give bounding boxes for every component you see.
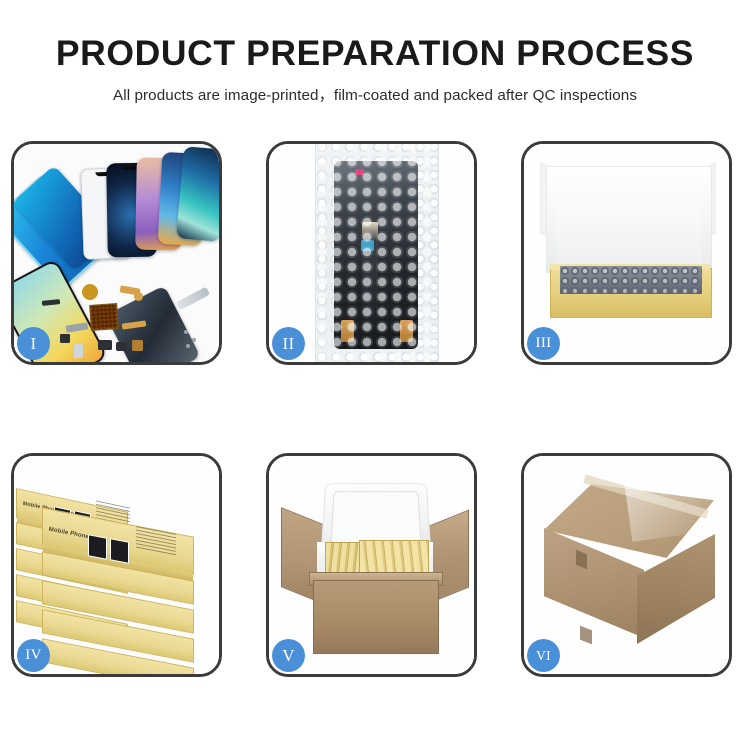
open-flat-box-scene xyxy=(524,144,729,362)
carton-packing-scene xyxy=(269,456,474,674)
process-step-panel-3: III xyxy=(521,141,732,365)
taptic-engine-part xyxy=(116,342,127,351)
charging-port-part xyxy=(132,340,143,351)
stacked-retail-boxes-scene: Mobile Phone Spare Parts Mobile Phone Sp… xyxy=(14,456,219,674)
logic-board-part xyxy=(89,303,119,331)
step-2-image xyxy=(269,144,474,362)
screw-part xyxy=(184,330,188,334)
foam-lid-inner xyxy=(330,491,421,544)
process-step-panel-2: II xyxy=(266,141,477,365)
camera-module-part xyxy=(60,334,70,343)
process-step-panel-1: I xyxy=(11,141,222,365)
bubble-wrapped-contents xyxy=(560,266,702,294)
bubble-wrapped-screen-scene xyxy=(269,144,474,362)
lcd-tab-left xyxy=(341,320,354,342)
process-step-panel-6: VI xyxy=(521,453,732,677)
box-window-screen xyxy=(88,534,107,560)
step-1-image xyxy=(14,144,219,362)
page-header: PRODUCT PREPARATION PROCESS All products… xyxy=(0,0,750,105)
battery-connector-part xyxy=(74,344,83,358)
sim-tray-part xyxy=(98,340,112,350)
box-window-screen xyxy=(110,538,129,564)
qc-sticker xyxy=(355,169,364,175)
home-button-part xyxy=(134,292,143,301)
tweezers-tool xyxy=(176,287,210,311)
teal-lcd-screen xyxy=(176,146,219,241)
lcd-connector xyxy=(361,240,374,251)
vibration-motor-part xyxy=(82,284,98,300)
lcd-tab-right xyxy=(400,320,413,342)
step-badge-2: II xyxy=(272,327,305,360)
process-step-panel-4: Mobile Phone Spare Parts Mobile Phone Sp… xyxy=(11,453,222,677)
process-step-panel-5: V xyxy=(266,453,477,677)
step-6-image xyxy=(524,456,729,674)
phones-and-parts-scene xyxy=(14,144,219,362)
step-badge-4: IV xyxy=(17,639,50,672)
lcd-flex-cable xyxy=(362,222,378,326)
step-badge-6: VI xyxy=(527,639,560,672)
screw-part xyxy=(186,344,190,348)
carton-seam-lower xyxy=(580,626,592,645)
screw-part xyxy=(192,338,196,342)
step-badge-5: V xyxy=(272,639,305,672)
step-5-image xyxy=(269,456,474,674)
packed-retail-boxes-right xyxy=(359,540,429,574)
page-title: PRODUCT PREPARATION PROCESS xyxy=(0,0,750,74)
sealed-carton-scene xyxy=(524,456,729,674)
page-subtitle: All products are image-printed，film-coat… xyxy=(0,74,750,105)
process-step-grid: I II xyxy=(11,141,739,686)
carton-body xyxy=(313,580,439,654)
step-3-image xyxy=(524,144,729,362)
step-badge-1: I xyxy=(17,327,50,360)
step-4-image: Mobile Phone Spare Parts Mobile Phone Sp… xyxy=(14,456,219,674)
step-badge-3: III xyxy=(527,327,560,360)
